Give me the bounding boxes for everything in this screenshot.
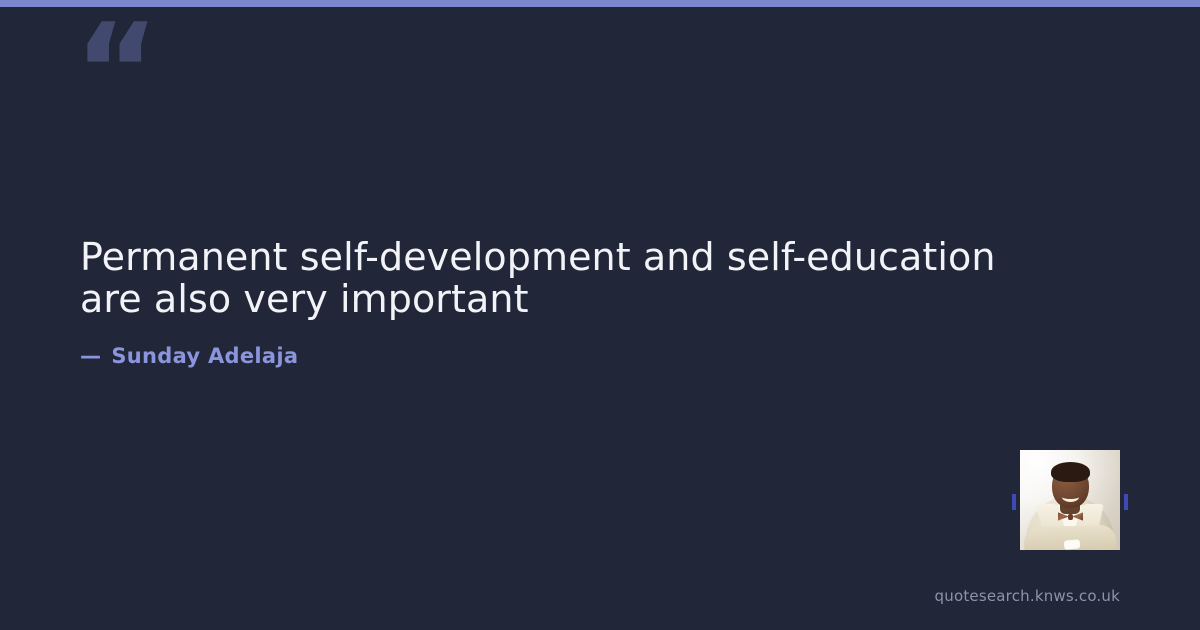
- quote-card: “ Permanent self-development and self-ed…: [0, 0, 1200, 630]
- opening-quote-icon: “: [74, 6, 157, 136]
- portrait-image: [1020, 450, 1120, 550]
- author-attribution: — Sunday Adelaja: [80, 344, 298, 368]
- top-accent-bar: [0, 0, 1200, 7]
- quote-body: Permanent self-development and self-educ…: [80, 236, 1040, 320]
- quote-text: Permanent self-development and self-educ…: [80, 236, 1040, 320]
- portrait-smile: [1062, 492, 1079, 502]
- prev-marker-icon[interactable]: [1012, 494, 1016, 510]
- portrait-hair: [1051, 462, 1090, 482]
- portrait-cuff: [1064, 539, 1081, 550]
- portrait-bow-tie: [1058, 511, 1083, 522]
- source-url[interactable]: quotesearch.knws.co.uk: [935, 587, 1120, 605]
- portrait-bow-knot: [1068, 514, 1073, 520]
- author-dash: —: [80, 344, 101, 368]
- author-name: Sunday Adelaja: [111, 344, 298, 368]
- author-portrait: [1020, 450, 1120, 550]
- next-marker-icon[interactable]: [1124, 494, 1128, 510]
